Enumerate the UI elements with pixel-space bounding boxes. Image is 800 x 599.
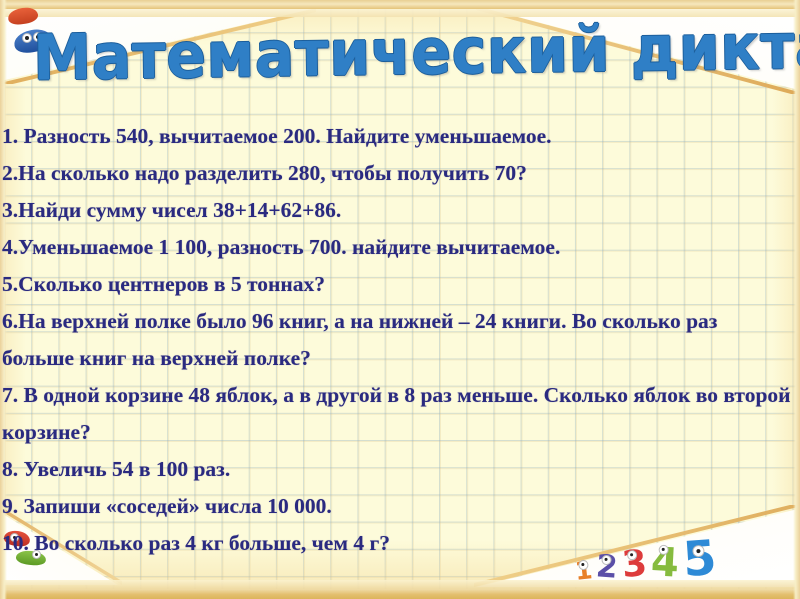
question-item: 3.Найди сумму чисел 38+14+62+86.: [0, 192, 800, 229]
question-item: 2.На сколько надо разделить 280, чтобы п…: [0, 155, 800, 192]
question-item: 10. Во сколько раз 4 кг больше, чем 4 г?: [0, 525, 800, 562]
question-item: 4.Уменьшаемое 1 100, разность 700. найди…: [0, 229, 800, 266]
question-item: 5.Сколько центнеров в 5 тоннах?: [0, 266, 800, 303]
slide-canvas: 1 2 3 4 5: [0, 0, 800, 599]
question-item: 7. В одной корзине 48 яблок, а в другой …: [0, 377, 800, 451]
question-item: 8. Увеличь 54 в 100 раз.: [0, 451, 800, 488]
question-item: 1. Разность 540, вычитаемое 200. Найдите…: [0, 118, 800, 155]
question-list: 1. Разность 540, вычитаемое 200. Найдите…: [0, 118, 800, 562]
question-item: 9. Запиши «соседей» числа 10 000.: [0, 488, 800, 525]
question-item: 6.На верхней полке было 96 книг, а на ни…: [0, 303, 800, 377]
